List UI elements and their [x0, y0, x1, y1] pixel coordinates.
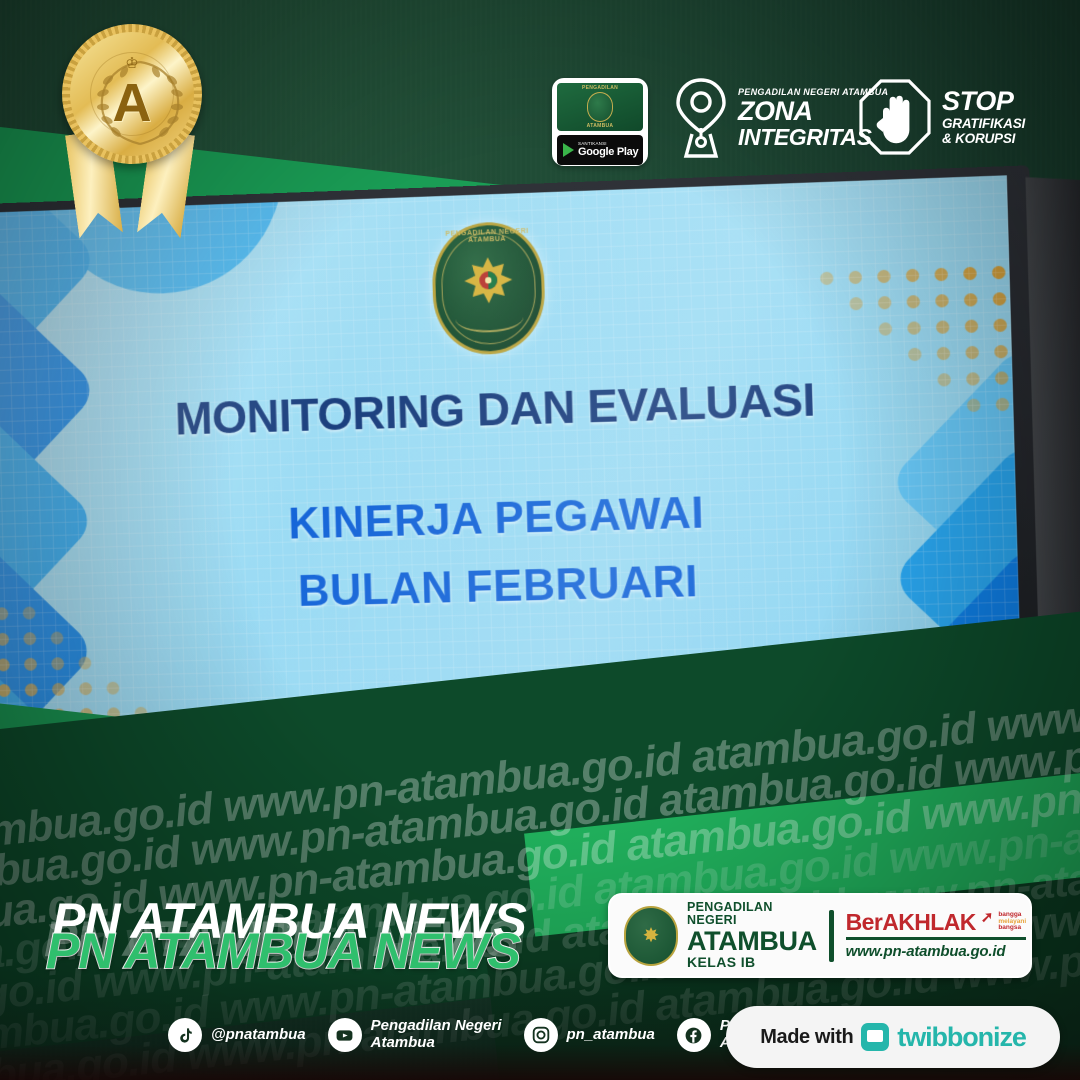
app-icon-top-label: PENGADILAN	[557, 85, 643, 91]
brand-rule	[846, 937, 1026, 940]
google-play-icon	[563, 143, 574, 157]
twibbonize-made-with: Made with	[760, 1026, 853, 1049]
google-play-badge[interactable]: PENGADILAN ATAMBUA SANTIKANSI Google Pla…	[552, 78, 648, 166]
brand-court-line-3: KELAS IB	[687, 955, 817, 970]
stop-line-1: STOP	[942, 87, 1025, 115]
social-link-youtube[interactable]: Pengadilan Negeri Atambua	[328, 1018, 502, 1052]
stop-hand-octagon-icon	[858, 78, 932, 156]
facebook-icon	[677, 1018, 711, 1052]
zona-integritas-block: PENGADILAN NEGERI ATAMBUA ZONA INTEGRITA…	[672, 76, 888, 160]
stop-line-2: GRATIFIKASI	[942, 116, 1025, 132]
stop-line-3: & KORUPSI	[942, 131, 1025, 147]
brand-seal-star: ✸	[643, 923, 660, 948]
instagram-icon	[524, 1018, 558, 1052]
youtube-icon	[328, 1018, 362, 1052]
brand-court-line-2: ATAMBUA	[687, 927, 817, 955]
news-headline-main: PN ATAMBUA NEWS	[46, 922, 520, 980]
tiktok-icon	[168, 1018, 202, 1052]
social-link-tiktok[interactable]: @pnatambua	[168, 1018, 306, 1052]
play-store-name: Google Play	[578, 147, 638, 158]
location-pin-icon	[672, 76, 730, 160]
bangga-melayani-bangsa: bangga melayani bangsa	[998, 912, 1026, 932]
poster-canvas: PENGADILAN NEGERI ATAMBUA MONITORING DAN…	[0, 0, 1080, 1080]
app-icon-bottom-label: ATAMBUA	[557, 123, 643, 129]
social-label-youtube: Pengadilan Negeri Atambua	[371, 1018, 502, 1052]
medal-disc: ♔ A	[62, 24, 202, 164]
brand-court-line-1: PENGADILAN NEGERI	[687, 901, 817, 927]
app-icon-seal	[587, 92, 613, 122]
google-play-button[interactable]: SANTIKANSI Google Play	[557, 135, 643, 165]
twibbonize-badge[interactable]: Made with twibbonize	[726, 1006, 1060, 1068]
berakhlak-logo: BerAKHLAK ➚ bangga melayani bangsa	[846, 911, 1026, 934]
bangga-line-3: bangsa	[998, 925, 1026, 932]
news-headline: PN ATAMBUA NEWS PN ATAMBUA NEWS PN ATAMB…	[44, 890, 584, 982]
brand-website-url[interactable]: www.pn-atambua.go.id	[846, 943, 1026, 960]
twibbonize-logo-icon	[861, 1023, 889, 1051]
social-label-tiktok: @pnatambua	[211, 1027, 306, 1044]
berakhlak-arrow-icon: ➚	[981, 908, 994, 926]
gold-medal-badge: ♔ A	[48, 14, 216, 234]
brand-divider	[829, 910, 834, 962]
twibbonize-brand: twibbonize	[897, 1022, 1025, 1053]
app-icon: PENGADILAN ATAMBUA	[557, 83, 643, 131]
brand-court-seal-icon: ✸	[624, 906, 678, 966]
social-link-instagram[interactable]: pn_atambua	[524, 1018, 655, 1052]
brand-footer-card: ✸ PENGADILAN NEGERI ATAMBUA KELAS IB Ber…	[608, 893, 1032, 978]
medal-face: ♔ A	[70, 32, 194, 156]
stop-gratifikasi-block: STOP GRATIFIKASI & KORUPSI	[858, 78, 1025, 156]
social-label-instagram: pn_atambua	[567, 1027, 655, 1044]
berakhlak-wordmark: BerAKHLAK	[846, 911, 976, 934]
medal-inner-ring	[90, 52, 174, 136]
